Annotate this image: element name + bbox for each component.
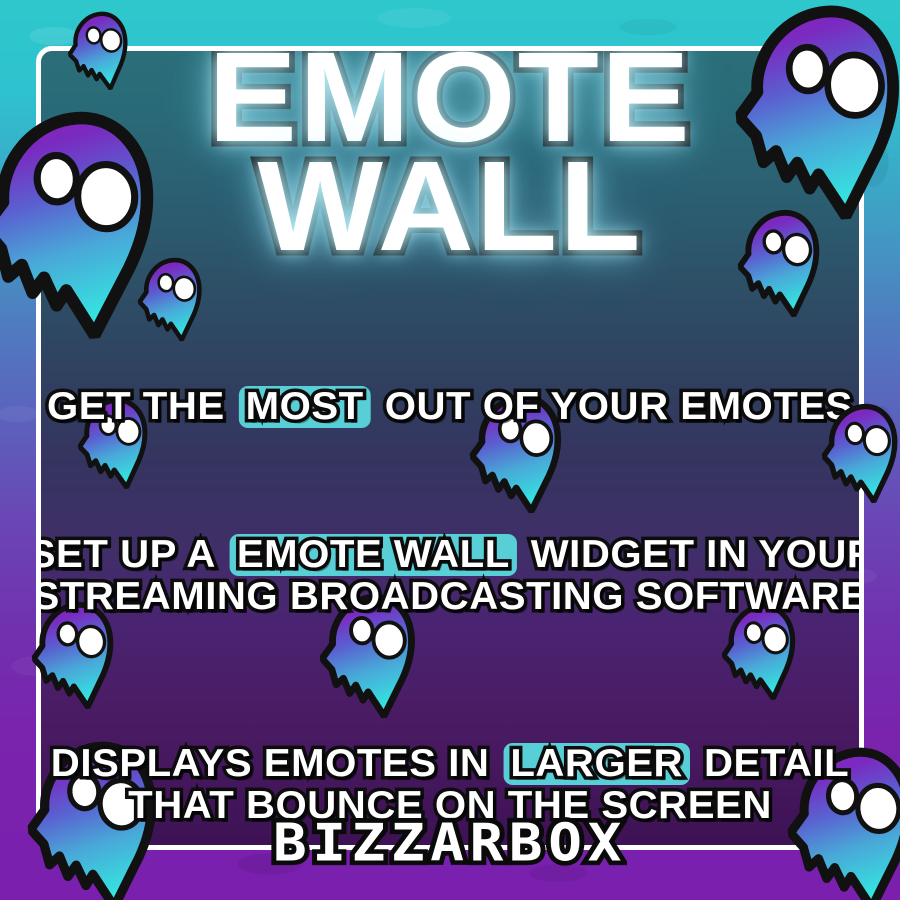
brand-name: BIZZARBOX [273, 813, 627, 873]
feature-line-2-row-2: STREAMING BROADCASTING SOFTWARE [36, 576, 864, 618]
text-segment: DETAIL [704, 743, 849, 785]
text-segment: LARGER [510, 743, 683, 785]
text-segment: MOST [246, 386, 364, 428]
text-segment: STREAMING BROADCASTING SOFTWARE [36, 576, 864, 618]
brand-logo: BIZZARBOX [0, 814, 900, 872]
feature-line-1: GET THE MOST OUT OF YOUR EMOTES [36, 386, 864, 428]
ghost-mascot-icon [817, 400, 900, 508]
highlight-box: LARGER [503, 743, 690, 785]
text-segment: EMOTE WALL [237, 534, 510, 576]
feature-line-2-row-1: SET UP A EMOTE WALL WIDGET IN YOUR [36, 534, 864, 576]
ghost-mascot-icon [733, 206, 828, 322]
promo-graphic: EMOTE WALL GET THE MOST OUT OF YOUR EMOT… [0, 0, 900, 900]
ghost-mascot-icon [134, 255, 208, 345]
highlight-box: EMOTE WALL [230, 534, 517, 576]
feature-line-1-content: GET THE MOST OUT OF YOUR EMOTES [47, 385, 853, 428]
feature-line-3-row-1: DISPLAYS EMOTES IN LARGER DETAIL [36, 743, 864, 785]
highlight-box: MOST [238, 386, 371, 428]
feature-line-2: SET UP A EMOTE WALL WIDGET IN YOUR STREA… [36, 534, 864, 618]
text-segment: OUT OF YOUR EMOTES [385, 386, 853, 428]
text-segment: WIDGET IN YOUR [531, 534, 864, 576]
text-segment: DISPLAYS EMOTES IN [51, 743, 490, 785]
text-segment: GET THE [47, 386, 225, 428]
text-segment: SET UP A [36, 534, 216, 576]
ghost-mascot-icon [63, 8, 135, 95]
ghost-mascot-icon [727, 0, 900, 228]
